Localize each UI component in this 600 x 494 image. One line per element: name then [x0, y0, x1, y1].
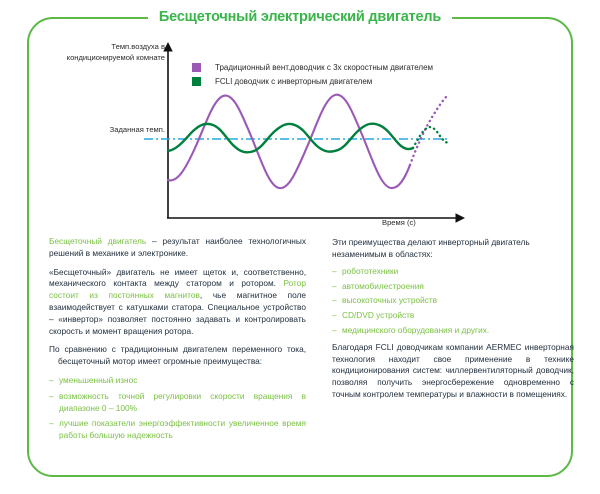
page-title: Бесщеточный электрический двигатель — [148, 9, 452, 25]
list-item: лучшие показатели энергоэффективности ув… — [49, 418, 306, 442]
list-item: уменьшенный износ — [49, 375, 306, 387]
chart-series-fcli-forecast — [413, 127, 448, 148]
left-text-column: Бесщеточный двигатель – результат наибол… — [49, 236, 306, 446]
list-item: автомобилестроения — [332, 281, 574, 293]
text-columns: Бесщеточный двигатель – результат наибол… — [27, 236, 573, 476]
left-p1-lead: Бесщеточный двигатель — [49, 236, 146, 246]
list-item: CD/DVD устройств — [332, 310, 574, 322]
chart-plot — [27, 38, 573, 233]
list-item: возможность точной регулировки скорости … — [49, 391, 306, 415]
left-paragraph-3: По сравнению с традиционным двигателем п… — [49, 344, 306, 368]
chart-series-traditional-forecast — [410, 96, 447, 165]
left-paragraph-2: «Бесщеточный» двигатель не имеет щеток и… — [49, 267, 306, 338]
chart-series-traditional — [168, 95, 410, 188]
list-item: высокоточных устройств — [332, 295, 574, 307]
chart-series-fcli — [168, 124, 413, 153]
right-text-column: Эти преимущества делают инверторный двиг… — [332, 236, 574, 408]
chart-figure: Темп.воздуха в кондиционируемой комнате … — [27, 38, 573, 233]
right-closing-paragraph: Благодаря FCLI доводчикам компании AERME… — [332, 342, 574, 401]
left-advantages-list: уменьшенный износ возможность точной рег… — [49, 375, 306, 442]
right-intro: Эти преимущества делают инверторный двиг… — [332, 236, 574, 261]
left-paragraph-1: Бесщеточный двигатель – результат наибол… — [49, 236, 306, 260]
list-item: медицинского оборудования и других. — [332, 325, 574, 337]
right-applications-list: робототехники автомобилестроения высокот… — [332, 266, 574, 337]
left-p2-a: «Бесщеточный» двигатель не имеет щеток и… — [49, 267, 306, 289]
list-item: робототехники — [332, 266, 574, 278]
